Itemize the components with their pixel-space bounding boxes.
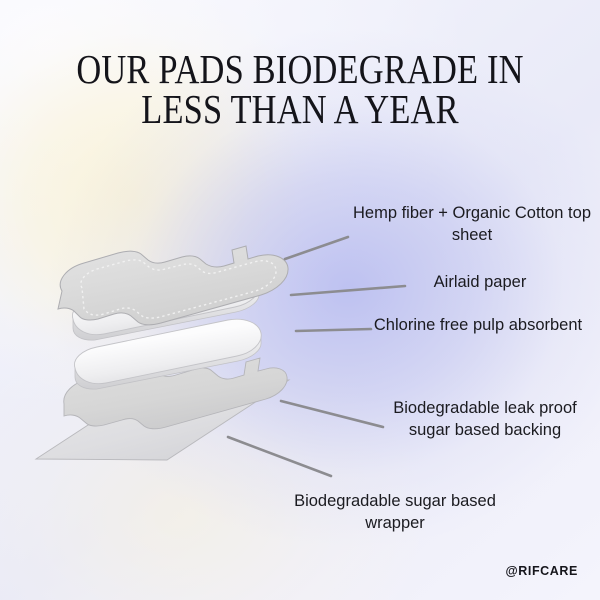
- layer-wrapper: [36, 380, 289, 460]
- leader-line-top-sheet: [285, 237, 348, 259]
- layer-top-sheet: [58, 246, 288, 325]
- brand-watermark: @RIFCARE: [505, 564, 578, 578]
- leader-line-wrapper: [228, 437, 331, 476]
- poster-canvas: OUR PADS BIODEGRADE IN LESS THAN A YEAR: [0, 0, 600, 600]
- title-line-2: LESS THAN A YEAR: [48, 90, 552, 130]
- layer-airlaid: [72, 270, 259, 340]
- page-title: OUR PADS BIODEGRADE IN LESS THAN A YEAR: [0, 50, 600, 130]
- label-biodegradable-backing: Biodegradable leak proof sugar based bac…: [376, 398, 594, 442]
- layer-pulp: [74, 319, 261, 389]
- label-chlorine-free-pulp: Chlorine free pulp absorbent: [360, 315, 596, 337]
- label-biodegradable-wrapper: Biodegradable sugar based wrapper: [274, 491, 516, 535]
- leader-line-backing: [281, 401, 383, 427]
- title-line-1: OUR PADS BIODEGRADE IN: [48, 50, 552, 90]
- layer-backing: [64, 358, 287, 429]
- label-airlaid: Airlaid paper: [368, 272, 592, 294]
- label-top-sheet: Hemp fiber + Organic Cotton top sheet: [352, 203, 592, 247]
